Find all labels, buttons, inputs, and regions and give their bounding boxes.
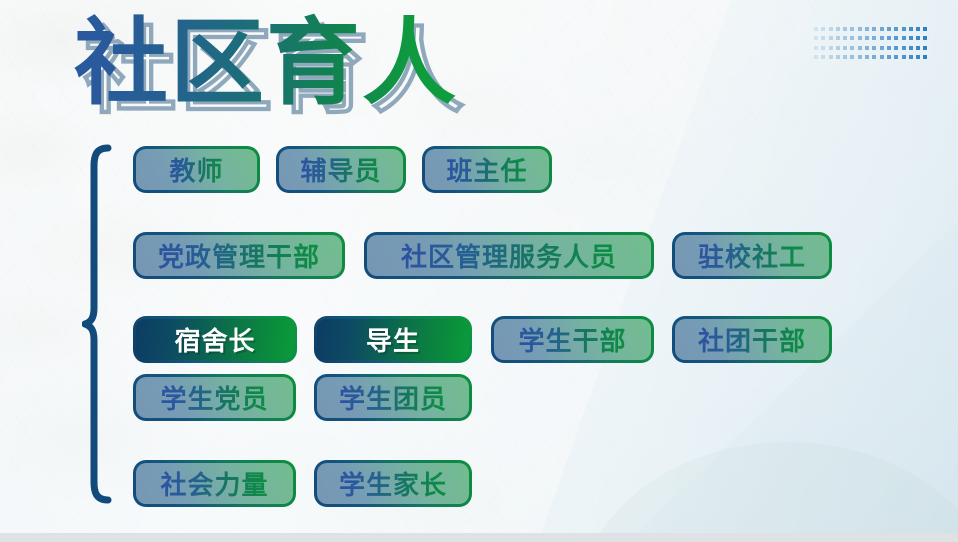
dot-grid-dot	[836, 46, 840, 50]
dot-grid-dot	[872, 36, 876, 40]
bottom-edge-strip	[0, 533, 958, 542]
dot-grid-dot	[880, 46, 884, 50]
dot-grid-dot	[850, 55, 854, 59]
dot-grid-dot	[858, 27, 862, 31]
dot-grid-dot	[880, 55, 884, 59]
role-pill[interactable]: 学生团员	[314, 374, 472, 421]
dot-grid-dot	[821, 55, 825, 59]
dot-grid-dot	[829, 46, 833, 50]
dot-grid-dot	[872, 27, 876, 31]
dot-grid-dot	[814, 27, 818, 31]
dot-grid-dot	[858, 46, 862, 50]
dot-grid-dot	[843, 36, 847, 40]
dot-grid-dot	[916, 27, 920, 31]
role-pill-label: 学生党员	[160, 379, 268, 416]
role-pill[interactable]: 社区管理服务人员	[364, 232, 654, 279]
dot-grid-decoration	[814, 27, 931, 65]
role-pill[interactable]: 导生	[314, 316, 472, 363]
role-pill-label: 社区管理服务人员	[401, 237, 617, 274]
dot-grid-dot	[850, 36, 854, 40]
dot-grid-dot	[887, 55, 891, 59]
role-pill-label: 党政管理干部	[158, 237, 320, 274]
dot-grid-dot	[843, 46, 847, 50]
role-pill[interactable]: 驻校社工	[672, 232, 832, 279]
dot-grid-dot	[865, 36, 869, 40]
dot-grid-dot	[865, 27, 869, 31]
role-pill-label: 学生团员	[339, 379, 447, 416]
slide-canvas: 社区育人 社区育人 教师辅导员班主任党政管理干部社区管理服务人员驻校社工宿舍长导…	[0, 0, 958, 542]
role-pill-label: 辅导员	[300, 151, 381, 188]
dot-grid-dot	[821, 27, 825, 31]
role-pill-label: 导生	[366, 321, 420, 358]
dot-grid-dot	[821, 46, 825, 50]
dot-grid-dot	[836, 27, 840, 31]
role-pill-label: 驻校社工	[698, 237, 806, 274]
dot-grid-dot	[909, 27, 913, 31]
role-pill[interactable]: 学生党员	[133, 374, 296, 421]
dot-grid-dot	[902, 55, 906, 59]
role-pill-label: 学生干部	[518, 321, 626, 358]
dot-grid-dot	[814, 46, 818, 50]
dot-grid-dot	[916, 55, 920, 59]
dot-grid-dot	[894, 46, 898, 50]
dot-grid-dot	[872, 46, 876, 50]
dot-grid-dot	[902, 36, 906, 40]
dot-grid-dot	[829, 36, 833, 40]
role-pill-label: 学生家长	[339, 465, 447, 502]
role-pill-label: 教师	[169, 151, 223, 188]
dot-grid-dot	[829, 55, 833, 59]
role-pill[interactable]: 党政管理干部	[133, 232, 345, 279]
dot-grid-dot	[843, 27, 847, 31]
dot-grid-dot	[894, 27, 898, 31]
dot-grid-dot	[902, 46, 906, 50]
dot-grid-dot	[923, 27, 927, 31]
dot-grid-dot	[923, 36, 927, 40]
dot-grid-dot	[865, 46, 869, 50]
dot-grid-dot	[858, 36, 862, 40]
role-pill-label: 社会力量	[160, 465, 268, 502]
role-pill-label: 班主任	[446, 151, 527, 188]
role-pill[interactable]: 社会力量	[133, 460, 296, 507]
dot-grid-dot	[909, 55, 913, 59]
role-pill-label: 宿舍长	[174, 321, 255, 358]
dot-grid-dot	[887, 36, 891, 40]
role-pill[interactable]: 辅导员	[276, 146, 406, 193]
dot-grid-dot	[872, 55, 876, 59]
left-curly-brace-icon	[82, 144, 116, 504]
role-pill[interactable]: 班主任	[422, 146, 552, 193]
dot-grid-dot	[894, 36, 898, 40]
role-pill-label: 社团干部	[698, 321, 806, 358]
dot-grid-dot	[850, 46, 854, 50]
dot-grid-dot	[880, 27, 884, 31]
dot-grid-dot	[923, 46, 927, 50]
dot-grid-dot	[909, 36, 913, 40]
dot-grid-dot	[850, 27, 854, 31]
dot-grid-dot	[909, 46, 913, 50]
dot-grid-dot	[902, 27, 906, 31]
role-pill[interactable]: 学生家长	[314, 460, 472, 507]
dot-grid-dot	[894, 55, 898, 59]
dot-grid-dot	[887, 27, 891, 31]
dot-grid-dot	[880, 36, 884, 40]
dot-grid-dot	[916, 36, 920, 40]
dot-grid-dot	[923, 55, 927, 59]
dot-grid-dot	[858, 55, 862, 59]
dot-grid-dot	[836, 55, 840, 59]
dot-grid-dot	[865, 55, 869, 59]
dot-grid-dot	[814, 36, 818, 40]
dot-grid-dot	[836, 36, 840, 40]
page-title: 社区育人 社区育人	[74, 8, 534, 128]
page-title-text: 社区育人	[74, 8, 458, 120]
dot-grid-dot	[829, 27, 833, 31]
dot-grid-dot	[843, 55, 847, 59]
role-pill[interactable]: 社团干部	[672, 316, 832, 363]
role-pill[interactable]: 宿舍长	[133, 316, 297, 363]
role-pill[interactable]: 教师	[133, 146, 260, 193]
dot-grid-dot	[821, 36, 825, 40]
role-pill[interactable]: 学生干部	[491, 316, 654, 363]
dot-grid-dot	[916, 46, 920, 50]
dot-grid-dot	[887, 46, 891, 50]
dot-grid-dot	[814, 55, 818, 59]
